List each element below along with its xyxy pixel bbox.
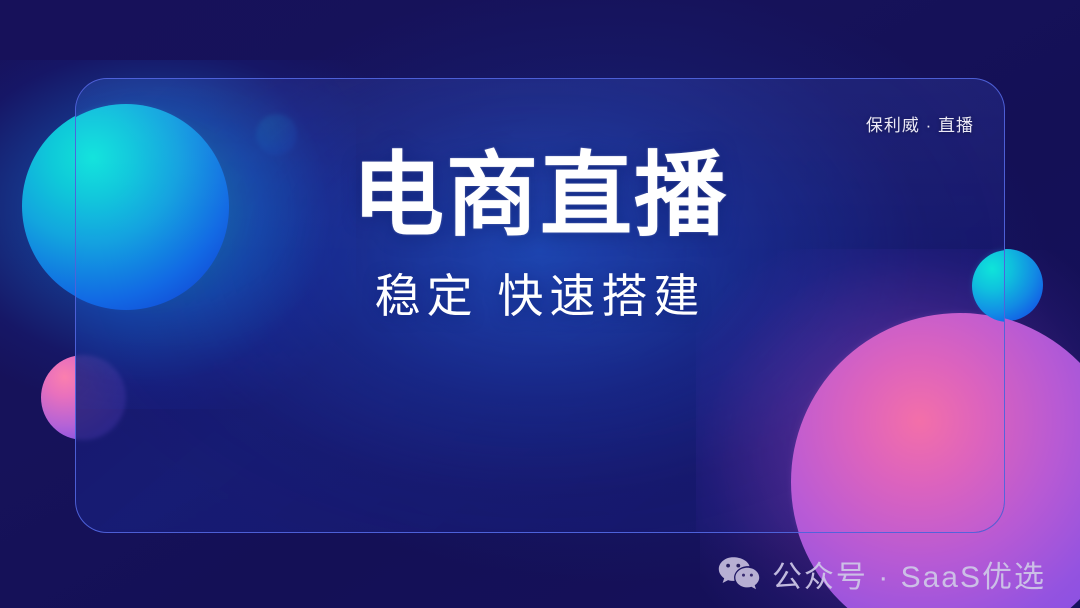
glass-card-panel: 保利威 · 直播	[75, 78, 1005, 533]
watermark: 公众号 · SaaS优选	[718, 552, 1046, 596]
watermark-label: 公众号 · SaaS优选	[772, 552, 1046, 596]
wechat-icon	[718, 556, 760, 592]
brand-label: 保利威 · 直播	[866, 111, 974, 136]
slide-canvas: 保利威 · 直播 电商直播 稳定 快速搭建 公众号 · SaaS优选	[0, 0, 1080, 608]
